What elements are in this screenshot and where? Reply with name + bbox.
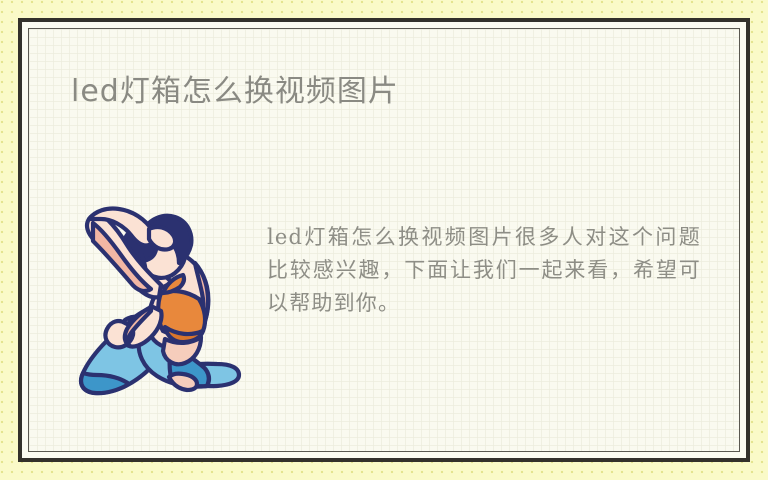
article-card: led灯箱怎么换视频图片 bbox=[0, 0, 768, 480]
page-title: led灯箱怎么换视频图片 bbox=[71, 73, 399, 111]
yoga-pose-woman-illustration bbox=[65, 189, 249, 409]
card-inner-rule: led灯箱怎么换视频图片 bbox=[28, 28, 740, 452]
card-outer-frame: led灯箱怎么换视频图片 bbox=[18, 18, 750, 462]
article-body-text: led灯箱怎么换视频图片很多人对这个问题比较感兴趣，下面让我们一起来看，希望可以… bbox=[267, 221, 701, 320]
card-content-panel: led灯箱怎么换视频图片 bbox=[29, 29, 739, 451]
